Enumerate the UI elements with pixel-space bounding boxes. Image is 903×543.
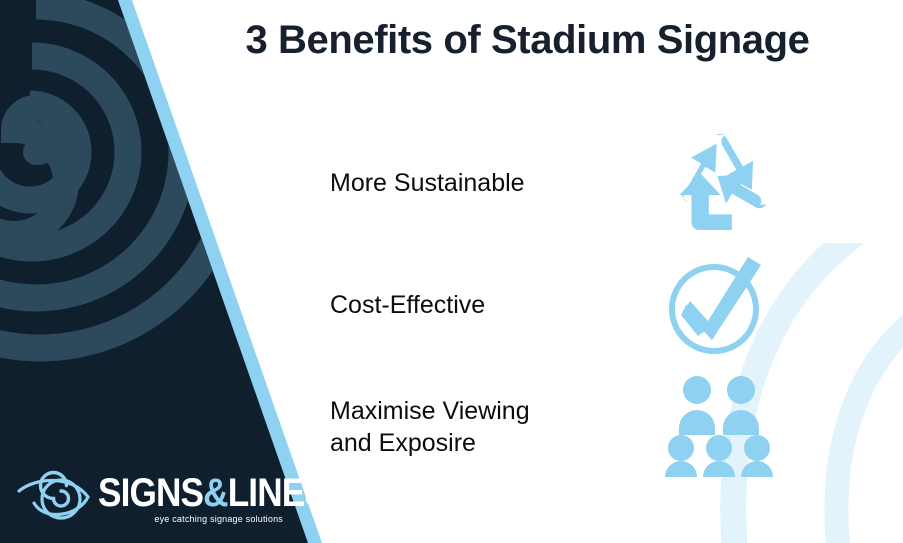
logo-tagline: eye catching signage solutions — [98, 514, 283, 524]
logo-word-signs: SIGNS — [98, 471, 203, 515]
logo-ampersand: & — [203, 471, 228, 515]
logo-word-lines: LINES — [228, 471, 327, 515]
benefits-list: More Sustainable — [330, 122, 830, 488]
benefit-row-sustainable: More Sustainable — [330, 122, 830, 244]
eye-spiral-icon — [16, 469, 100, 529]
infographic-canvas: 3 Benefits of Stadium Signage More Susta… — [0, 0, 903, 543]
benefit-label-cost-effective: Cost-Effective — [330, 289, 660, 321]
benefit-label-sustainable: More Sustainable — [330, 167, 660, 199]
page-title: 3 Benefits of Stadium Signage — [160, 17, 895, 63]
recycle-icon — [660, 127, 778, 239]
logo-text-block: SIGNS&LINES eye catching signage solutio… — [98, 473, 358, 526]
brand-logo: SIGNS&LINES eye catching signage solutio… — [16, 463, 358, 535]
benefit-label-line-1: Maximise Viewing — [330, 397, 530, 425]
logo-wordmark: SIGNS&LINES — [98, 473, 327, 513]
audience-group-icon — [660, 371, 778, 483]
benefit-label-maximise-viewing: Maximise Viewing and Exposire — [330, 395, 660, 459]
left-dark-panel — [0, 0, 340, 543]
benefit-label-line-2: and Exposire — [330, 429, 476, 457]
benefit-row-cost-effective: Cost-Effective — [330, 244, 830, 366]
benefit-row-maximise-viewing: Maximise Viewing and Exposire — [330, 366, 830, 488]
check-circle-icon — [660, 249, 778, 361]
